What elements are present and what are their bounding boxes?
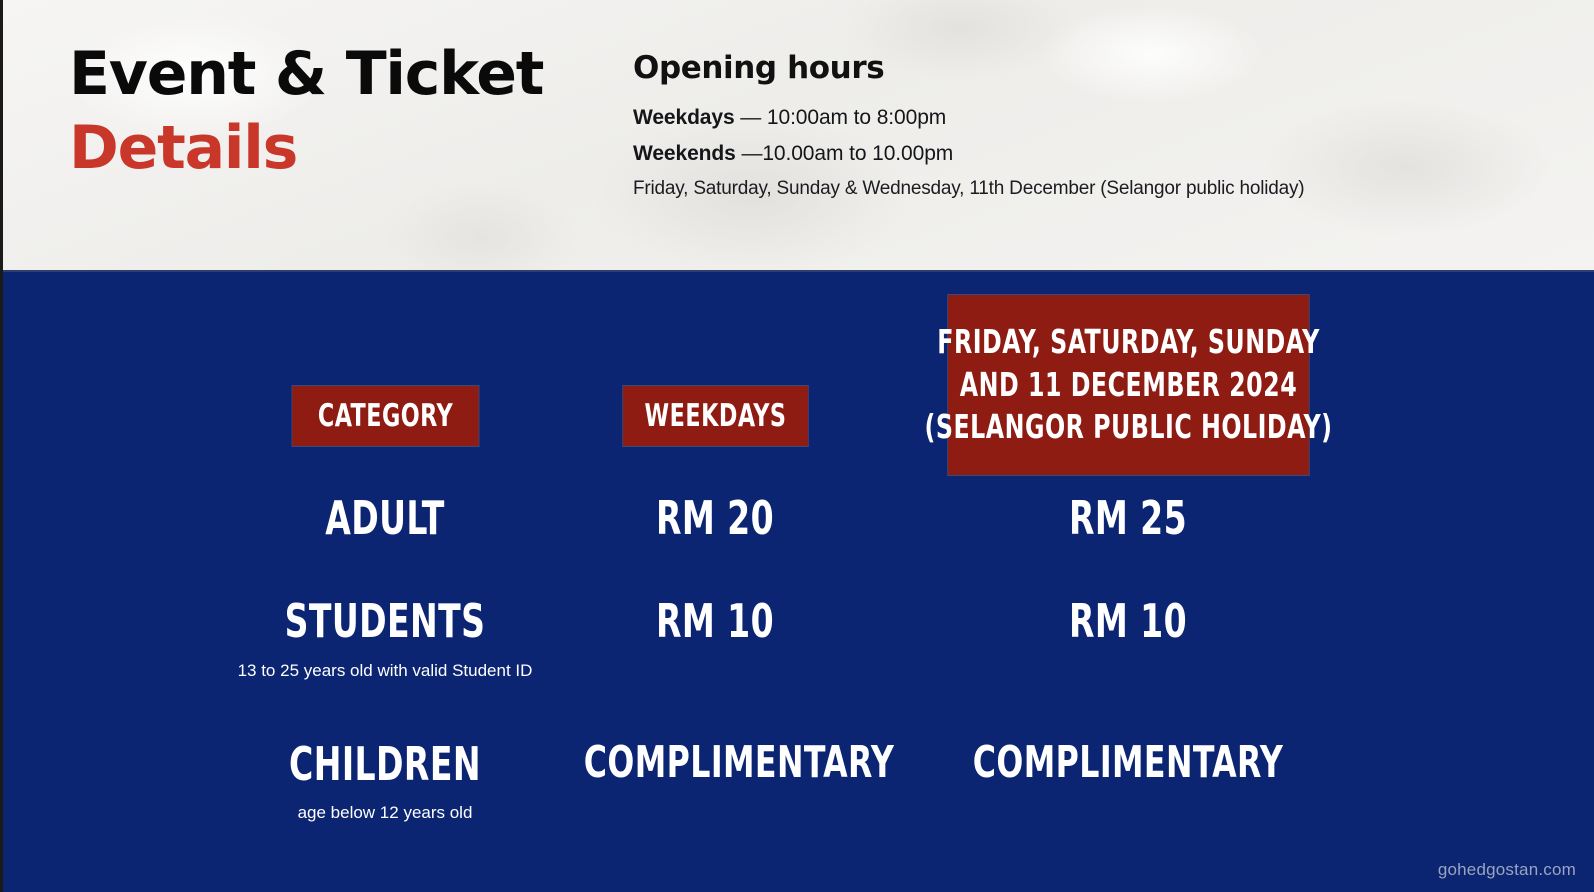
table-cell-holiday: RM 25 — [968, 494, 1288, 542]
opening-hours-weekdays: Weekdays — 10:00am to 8:00pm — [633, 106, 1304, 130]
watermark: gohedgostan.com — [1438, 860, 1576, 880]
opening-hours-note: Friday, Saturday, Sunday & Wednesday, 11… — [633, 178, 1304, 200]
pricing-table: CATEGORY WEEKDAYS FRIDAY, SATURDAY, SUND… — [3, 272, 1594, 892]
table-header-holiday: FRIDAY, SATURDAY, SUNDAY AND 11 DECEMBER… — [947, 294, 1309, 476]
header-panel: Event & Ticket Details Opening hours Wee… — [3, 0, 1594, 272]
page-title-line-2: Details — [69, 118, 543, 178]
table-row: CHILDREN — [225, 740, 545, 788]
weekends-value: —10.00am to 10.00pm — [736, 142, 953, 165]
page-title: Event & Ticket Details — [69, 44, 543, 178]
table-cell-category-note: 13 to 25 years old with valid Student ID — [185, 660, 585, 682]
table-cell-weekdays: RM 10 — [555, 597, 875, 645]
table-cell-holiday: COMPLIMENTARY — [949, 740, 1307, 786]
table-header-holiday-line-1: FRIDAY, SATURDAY, SUNDAY — [937, 321, 1320, 364]
opening-hours-block: Opening hours Weekdays — 10:00am to 8:00… — [633, 50, 1304, 200]
table-cell-category-note: age below 12 years old — [185, 802, 585, 824]
table-header-category: CATEGORY — [292, 385, 480, 447]
table-cell-holiday: RM 10 — [968, 597, 1288, 645]
opening-hours-weekends: Weekends —10.00am to 10.00pm — [633, 142, 1304, 166]
table-header-weekdays: WEEKDAYS — [622, 385, 808, 447]
table-header-holiday-line-3: (SELANGOR PUBLIC HOLIDAY) — [925, 406, 1333, 449]
table-cell-weekdays: RM 20 — [555, 494, 875, 542]
table-header-holiday-line-2: AND 11 DECEMBER 2024 — [960, 364, 1297, 407]
table-cell-weekdays: COMPLIMENTARY — [560, 740, 918, 786]
page-title-line-1: Event & Ticket — [69, 44, 543, 104]
table-row: ADULT — [225, 494, 545, 542]
table-row: STUDENTS — [225, 597, 545, 645]
weekdays-value: — 10:00am to 8:00pm — [735, 106, 947, 129]
slide-root: Event & Ticket Details Opening hours Wee… — [0, 0, 1594, 892]
weekdays-label: Weekdays — [633, 106, 735, 129]
weekends-label: Weekends — [633, 142, 736, 165]
opening-hours-heading: Opening hours — [633, 50, 1304, 86]
